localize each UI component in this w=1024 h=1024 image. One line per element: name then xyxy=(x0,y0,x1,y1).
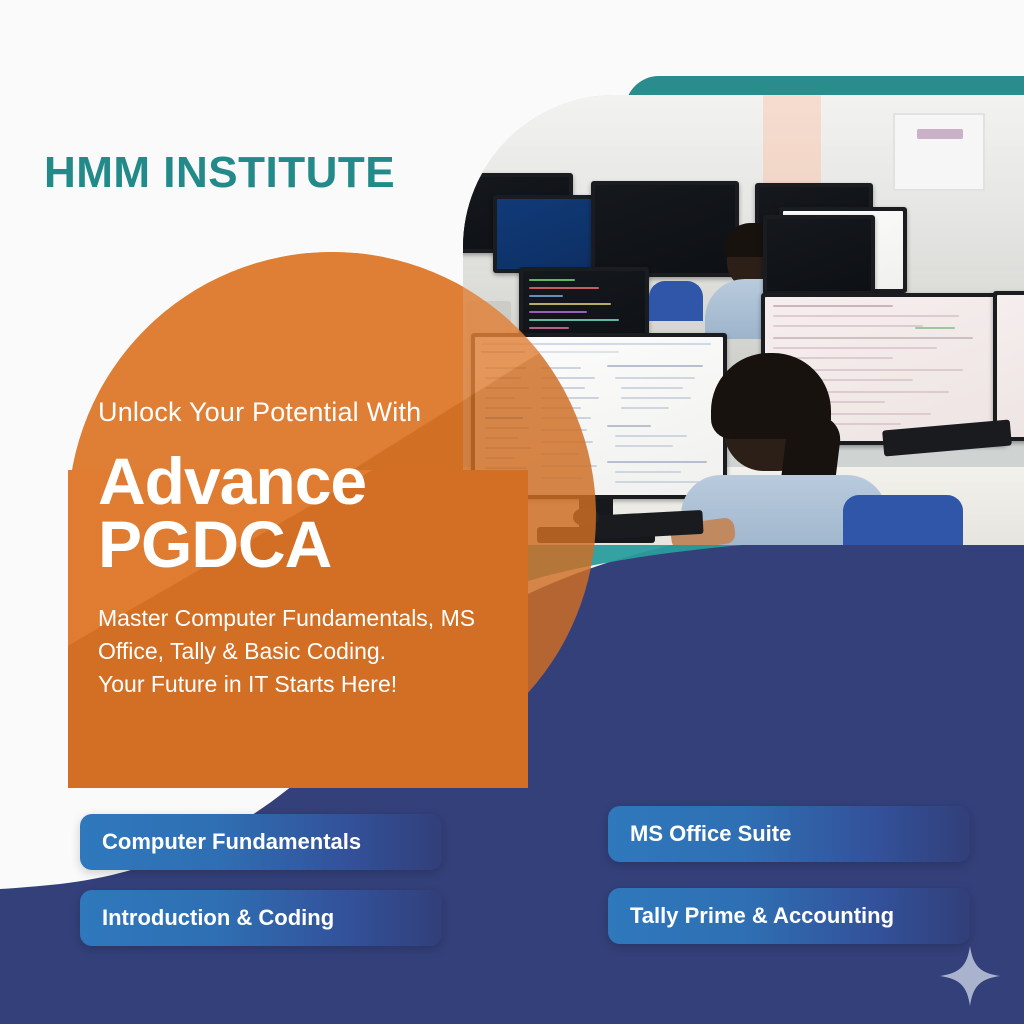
feature-pill-label: Computer Fundamentals xyxy=(102,829,361,855)
feature-pill-ms-office-suite[interactable]: MS Office Suite xyxy=(608,806,970,862)
hero-subcopy: Master Computer Fundamentals, MS Office,… xyxy=(98,602,550,700)
brand-logo: HMM INSTITUTE xyxy=(44,148,395,198)
hero-subcopy-line-2: Office, Tally & Basic Coding. xyxy=(98,635,550,668)
feature-pill-introduction-coding[interactable]: Introduction & Coding xyxy=(80,890,442,946)
sparkle-icon xyxy=(938,944,1002,1008)
feature-pill-label: Tally Prime & Accounting xyxy=(630,903,894,929)
hero-headline: Advance PGDCA xyxy=(98,450,550,577)
hero-subcopy-line-1: Master Computer Fundamentals, MS xyxy=(98,602,550,635)
feature-pill-label: Introduction & Coding xyxy=(102,905,334,931)
hero-copy-block: Unlock Your Potential With Advance PGDCA… xyxy=(98,398,550,700)
promotional-poster: HMM INSTITUTE Unlock Your Potential With… xyxy=(0,0,1024,1024)
feature-pill-computer-fundamentals[interactable]: Computer Fundamentals xyxy=(80,814,442,870)
hero-eyebrow: Unlock Your Potential With xyxy=(98,398,550,428)
hero-subcopy-line-3: Your Future in IT Starts Here! xyxy=(98,668,550,701)
feature-pill-tally-prime-accounting[interactable]: Tally Prime & Accounting xyxy=(608,888,970,944)
hero-headline-line-2: PGDCA xyxy=(98,513,550,576)
feature-pill-label: MS Office Suite xyxy=(630,821,791,847)
